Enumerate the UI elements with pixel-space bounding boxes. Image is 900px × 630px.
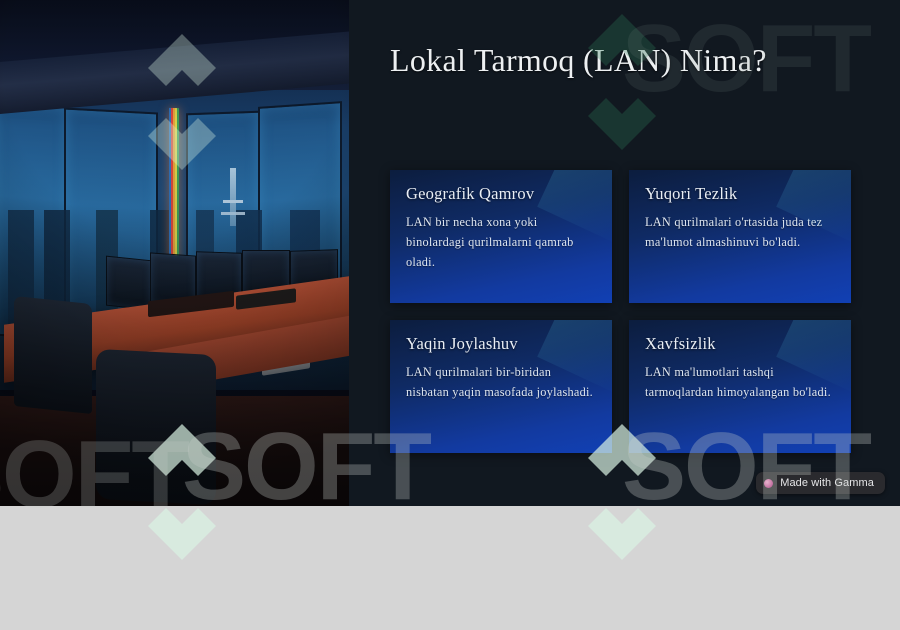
feature-card[interactable]: Yuqori Tezlik LAN qurilmalari o'rtasida … bbox=[629, 170, 851, 303]
feature-card-body: LAN ma'lumotlari tashqi tarmoqlardan him… bbox=[645, 363, 835, 403]
page-root: Lokal Tarmoq (LAN) Nima? Geografik Qamro… bbox=[0, 0, 900, 630]
feature-card[interactable]: Geografik Qamrov LAN bir necha xona yoki… bbox=[390, 170, 612, 303]
photo-chair bbox=[14, 296, 92, 414]
slide-image bbox=[0, 0, 349, 506]
feature-card-title: Yuqori Tezlik bbox=[645, 184, 835, 204]
feature-card-body: LAN bir necha xona yoki binolardagi quri… bbox=[406, 213, 596, 273]
feature-card-body: LAN qurilmalari o'rtasida juda tez ma'lu… bbox=[645, 213, 835, 253]
feature-card-title: Geografik Qamrov bbox=[406, 184, 596, 204]
photo-chair bbox=[96, 349, 216, 505]
gamma-dot-icon bbox=[764, 479, 773, 488]
photo-tower bbox=[230, 168, 236, 226]
feature-card[interactable]: Yaqin Joylashuv LAN qurilmalari bir-biri… bbox=[390, 320, 612, 453]
made-with-gamma-badge[interactable]: Made with Gamma bbox=[756, 472, 885, 494]
feature-card-body: LAN qurilmalari bir-biridan nisbatan yaq… bbox=[406, 363, 596, 403]
made-with-gamma-label: Made with Gamma bbox=[780, 477, 874, 489]
slide-content: Lokal Tarmoq (LAN) Nima? Geografik Qamro… bbox=[349, 0, 900, 506]
feature-card-grid: Geografik Qamrov LAN bir necha xona yoki… bbox=[390, 170, 849, 453]
photo-monitor bbox=[106, 256, 152, 311]
page-title: Lokal Tarmoq (LAN) Nima? bbox=[390, 40, 790, 82]
feature-card-title: Yaqin Joylashuv bbox=[406, 334, 596, 354]
feature-card[interactable]: Xavfsizlik LAN ma'lumotlari tashqi tarmo… bbox=[629, 320, 851, 453]
slide: Lokal Tarmoq (LAN) Nima? Geografik Qamro… bbox=[0, 0, 900, 506]
feature-card-title: Xavfsizlik bbox=[645, 334, 835, 354]
